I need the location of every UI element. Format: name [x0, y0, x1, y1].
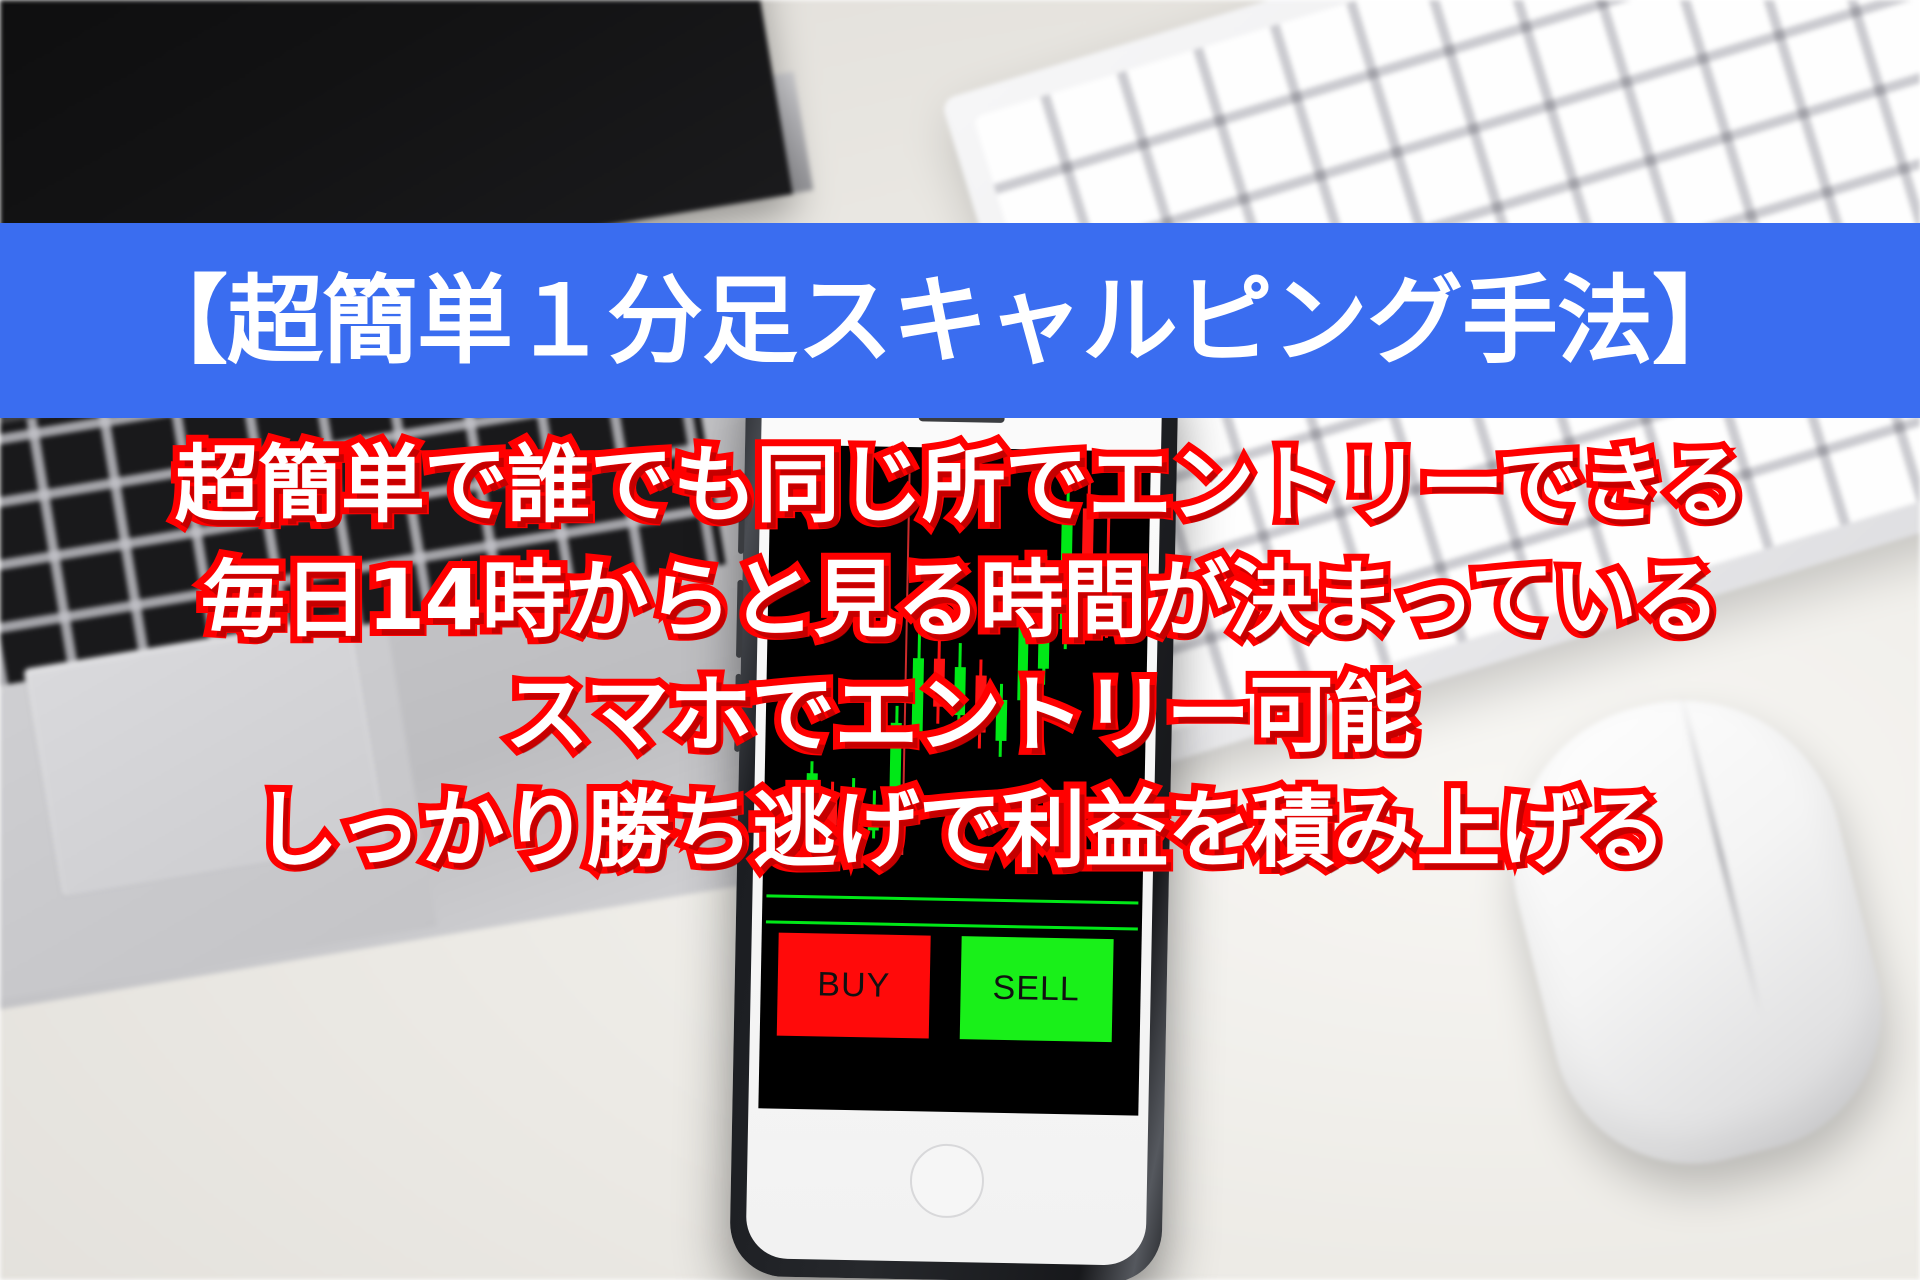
candle-body — [868, 811, 879, 831]
candle-body — [847, 818, 858, 826]
candlestick — [951, 448, 970, 886]
candlestick — [1076, 450, 1095, 888]
candlestick — [992, 449, 1011, 887]
candle-body — [1060, 508, 1073, 629]
thumbnail-canvas: BUYSELL 【超簡単１分足スキャルピング手法】 超簡単で誰でも同じ所でエント… — [0, 0, 1920, 1280]
phone-body: BUYSELL — [745, 366, 1162, 1266]
candle-body — [1102, 557, 1114, 614]
candle-body — [1017, 620, 1029, 701]
candle-body — [1082, 508, 1094, 573]
sell-button[interactable]: SELL — [959, 936, 1113, 1042]
candlestick — [1097, 451, 1116, 889]
candlestick — [1034, 450, 1053, 888]
candlestick — [846, 446, 865, 884]
candlestick — [804, 445, 823, 883]
support-level-line — [766, 895, 1138, 905]
candle-body — [974, 676, 986, 733]
candle-body — [933, 659, 945, 708]
smartphone: BUYSELL — [729, 348, 1179, 1280]
candlestick — [867, 446, 886, 884]
candle-body — [826, 798, 837, 826]
candlestick — [930, 448, 949, 886]
candlestick — [1055, 450, 1074, 888]
title-banner: 【超簡単１分足スキャルピング手法】 — [0, 223, 1920, 418]
candlestick — [971, 448, 990, 886]
phone-mute-switch[interactable] — [738, 508, 745, 554]
page-title: 【超簡単１分足スキャルピング手法】 — [132, 273, 1747, 369]
candle-body — [889, 722, 902, 815]
candlestick — [909, 447, 928, 885]
trading-app-chart[interactable]: BUYSELL — [758, 444, 1151, 1115]
candlestick — [1013, 449, 1032, 887]
buy-button[interactable]: BUY — [777, 933, 931, 1039]
candle-body — [1038, 588, 1050, 669]
phone-home-button[interactable] — [909, 1143, 984, 1218]
candle-body — [995, 700, 1007, 741]
candle-body — [806, 773, 818, 818]
support-level-line — [766, 921, 1138, 931]
candlestick — [825, 446, 844, 884]
candle-body — [954, 667, 966, 716]
candle-body — [912, 658, 924, 731]
